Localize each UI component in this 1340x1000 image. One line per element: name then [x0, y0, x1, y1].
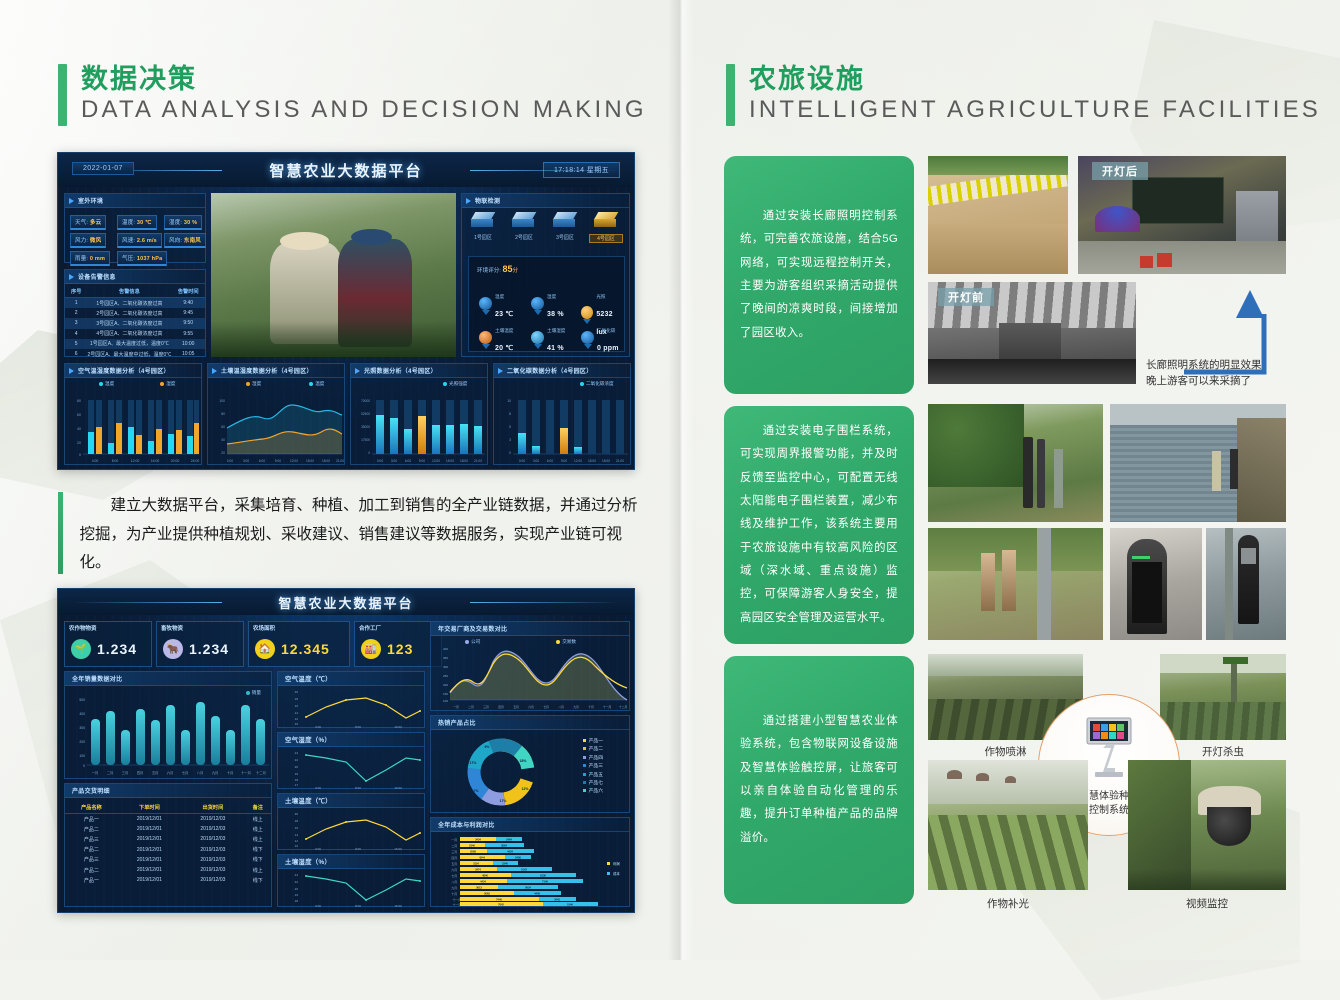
svg-text:9:00: 9:00 — [561, 459, 567, 463]
svg-text:四月: 四月 — [498, 705, 504, 709]
weather-chip: 风向: 东南风 — [164, 233, 206, 248]
svg-text:十二月: 十二月 — [453, 903, 462, 906]
svg-text:100: 100 — [79, 754, 85, 758]
table-row: 22号园区A、二氧化碳浓度过高9:45 — [65, 308, 205, 318]
panel-title: 产品交货明细 — [69, 786, 110, 795]
legend-cost: 成本 — [613, 871, 620, 876]
kpi-crop-supplies: 农作物物资 🌱 1.234 — [64, 621, 152, 667]
line-chart-svg: 201816141210 0:008:0016:00 — [278, 687, 426, 729]
svg-text:17%: 17% — [470, 761, 477, 765]
weather-chip: 雨量: 0 mm — [70, 251, 110, 266]
svg-text:21:00: 21:00 — [336, 459, 344, 463]
chart-hot-products: 热销产品占比 9%18%12% 17%17%17% 产品一 产品二 产品四 产品… — [430, 715, 630, 813]
table-row: 产品二2019/12/012019/12/03线下 — [65, 845, 271, 855]
triangle-icon — [69, 368, 74, 374]
zone-label: 2号园区 — [507, 234, 541, 241]
svg-text:16: 16 — [295, 826, 299, 830]
sensor-co2: 二氧化碳0 ppm — [581, 319, 619, 355]
svg-text:4434: 4434 — [480, 879, 486, 883]
svg-text:6136: 6136 — [540, 873, 546, 877]
svg-text:0: 0 — [83, 764, 85, 768]
kpi-partner-factories: 合作工厂 🏭 123 — [354, 621, 442, 667]
svg-text:12:00: 12:00 — [290, 459, 298, 463]
table-row: 产品一2019/12/012019/12/03线上 — [65, 814, 271, 825]
svg-text:九月: 九月 — [212, 770, 218, 775]
svg-text:6:00: 6:00 — [547, 459, 553, 463]
svg-text:10: 10 — [507, 399, 511, 403]
chart-profit-cost: 全年成本与利润对比 一月二月三月四月 五月六月七月八月 九月十月十一月十二月 — [430, 817, 630, 907]
svg-text:0:00: 0:00 — [519, 459, 525, 463]
svg-text:3694: 3694 — [501, 843, 507, 847]
panel-title: 年交易厂商及交易数对比 — [435, 624, 507, 633]
dashboard-date: 2022-01-07 — [72, 162, 134, 175]
section-title-en: INTELLIGENT AGRICULTURE FACILITIES — [749, 95, 1321, 125]
svg-text:九月: 九月 — [451, 886, 457, 890]
iot-zone-4[interactable]: 4号园区 — [589, 212, 623, 243]
crop-icon: 🌱 — [71, 639, 91, 659]
server-rack-icon — [552, 212, 578, 232]
triangle-icon — [69, 198, 74, 204]
chart-light-intensity: 光照数据分析（4号园区） 光照强度 700005250035000175000 — [350, 363, 488, 465]
svg-text:17%: 17% — [500, 799, 507, 803]
svg-text:0:00: 0:00 — [315, 847, 321, 851]
table-row: 产品三2019/12/012019/12/03线上 — [65, 834, 271, 844]
svg-text:二月: 二月 — [451, 844, 457, 848]
svg-text:八月: 八月 — [197, 771, 203, 775]
svg-text:35000: 35000 — [361, 425, 370, 429]
svg-text:70000: 70000 — [361, 399, 370, 403]
svg-text:十二月: 十二月 — [619, 705, 628, 709]
triangle-icon — [466, 198, 471, 204]
svg-text:5063: 5063 — [484, 891, 490, 895]
chart-legend: 温度 湿度 — [99, 381, 175, 387]
chart-soil-temperature-mini: 土壤温度（℃） 201816141210 0:008:0016:00 — [277, 793, 425, 850]
soil-thermometer-icon — [479, 331, 492, 344]
quote-text: 建立大数据平台，采集培育、种植、加工到销售的全产业链数据，并通过分析挖掘，为产业… — [79, 492, 638, 578]
iot-zone-3[interactable]: 3号园区 — [548, 212, 582, 241]
svg-text:0:00: 0:00 — [377, 459, 383, 463]
svg-text:二月: 二月 — [468, 705, 474, 709]
svg-text:2406: 2406 — [515, 855, 521, 859]
svg-text:5143: 5143 — [521, 867, 527, 871]
svg-text:3434: 3434 — [475, 837, 481, 841]
env-score: 环境评分: 85分 — [477, 264, 518, 274]
svg-text:8:00: 8:00 — [355, 847, 361, 851]
svg-text:5634: 5634 — [525, 885, 531, 889]
svg-text:16:00: 16:00 — [394, 786, 402, 790]
facility-card-lighting: 通过安装长廊照明控制系统，可完善农旅设施，结合5G网络，可实现远程控制开关，主要… — [724, 156, 914, 394]
server-rack-icon — [470, 212, 496, 232]
table-row: 产品二2019/12/012019/12/03线上 — [65, 824, 271, 834]
svg-text:15:00: 15:00 — [306, 459, 314, 463]
humidity-icon — [531, 297, 544, 310]
panel-title: 光照数据分析（4号园区） — [364, 366, 437, 375]
panel-title: 土壤温湿度数据分析（4号园区） — [221, 366, 313, 375]
svg-text:8:00: 8:00 — [355, 725, 361, 729]
facility-text: 通过搭建小型智慧农业体验系统，包含物联网设备设施及智慧体验触控屏，让旅客可以亲自… — [740, 710, 898, 850]
svg-text:19: 19 — [295, 893, 299, 897]
svg-text:五月: 五月 — [513, 705, 519, 709]
svg-text:200: 200 — [79, 740, 85, 744]
zone-label: 1号园区 — [466, 234, 500, 241]
table-row: 62号园区A、最大温度中过低，温度0℃10:05 — [65, 349, 205, 359]
svg-text:14: 14 — [295, 833, 299, 837]
svg-text:200: 200 — [443, 683, 448, 687]
photo-fence-orchard — [928, 404, 1103, 522]
line-chart-svg: 201816141210 0:008:0016:00 — [278, 809, 426, 851]
svg-text:二月: 二月 — [107, 771, 113, 775]
line-chart-svg: 242220191817 0:008:0016:00 — [278, 748, 426, 790]
iot-zone-2[interactable]: 2号园区 — [507, 212, 541, 241]
svg-text:2346: 2346 — [502, 861, 508, 865]
svg-text:40: 40 — [77, 427, 81, 431]
svg-text:300: 300 — [79, 726, 85, 730]
svg-text:24: 24 — [295, 873, 299, 877]
table-row: 产品二2019/12/012019/12/03线上 — [65, 865, 271, 875]
svg-text:0: 0 — [79, 453, 81, 457]
dashboard-title-bar: 智慧农业大数据平台 — [58, 589, 634, 615]
table-product-delivery: 产品交货明细 产品名称 下单时间 出货时间 备注 产品一2019/12/0120… — [64, 783, 272, 907]
page-fold — [668, 0, 694, 960]
section-title-cn: 数据决策 — [81, 64, 647, 95]
bar-chart-svg: 700005250035000175000 0:003:006:009:00 1… — [351, 394, 489, 466]
triangle-icon — [498, 368, 503, 374]
kpi-farm-area: 农场面积 🏠 12.345 — [248, 621, 350, 667]
chart-soil-humidity-mini: 土壤湿度（%） 2422201918 0:008:0016:00 — [277, 854, 425, 907]
svg-text:0: 0 — [509, 451, 511, 455]
area-chart-svg: 10080604020 0:003:006:009:00 12:0015:001… — [208, 394, 346, 466]
panel-iot-monitoring: 物联检测 1号园区 2号园区 3号园区 — [461, 193, 630, 357]
svg-text:10: 10 — [295, 722, 299, 726]
facility-text: 通过安装电子围栏系统，可实现周界报警功能，并及时反馈至监控中心，可配置无线太阳能… — [740, 420, 898, 630]
svg-text:0:00: 0:00 — [227, 459, 233, 463]
svg-text:60: 60 — [221, 425, 225, 429]
svg-text:18: 18 — [295, 778, 299, 782]
table-row: 产品三2019/12/012019/12/03线下 — [65, 855, 271, 865]
svg-text:七月: 七月 — [182, 770, 188, 775]
svg-text:四月: 四月 — [137, 771, 143, 775]
svg-text:5: 5 — [509, 425, 511, 429]
iot-sensor-box: 环境评分: 85分 温度23 ℃ 湿度38 % 光照5232 lux 土壤温度2… — [468, 256, 625, 352]
svg-text:18: 18 — [295, 899, 299, 903]
svg-text:八月: 八月 — [451, 880, 457, 884]
svg-text:18:00: 18:00 — [460, 459, 468, 463]
svg-text:400: 400 — [443, 647, 448, 651]
line-chart-svg: 2422201918 0:008:0016:00 — [278, 870, 426, 908]
quote-accent-bar — [58, 492, 63, 574]
svg-text:十月: 十月 — [227, 770, 233, 775]
svg-text:7446: 7446 — [496, 897, 502, 901]
photo-led-strip — [928, 156, 1068, 274]
panel-title: 二氧化碳数据分析（4号园区） — [507, 366, 593, 375]
svg-text:2568: 2568 — [470, 849, 476, 853]
farm-icon: 🏠 — [255, 639, 275, 659]
table-header-row: 序号 告警信息 告警时间 — [65, 286, 205, 298]
svg-text:16: 16 — [295, 704, 299, 708]
svg-text:4846: 4846 — [482, 873, 488, 877]
chart-air-temp-humidity: 空气温湿度数据分析（4号园区） 温度 湿度 806040200 — [64, 363, 202, 465]
svg-text:3443: 3443 — [554, 897, 560, 901]
svg-text:4448: 4448 — [534, 891, 540, 895]
panel-title: 室外环境 — [78, 196, 103, 205]
svg-text:七月: 七月 — [543, 705, 549, 709]
facility-card-experience: 通过搭建小型智慧农业体验系统，包含物联网设备设施及智慧体验触控屏，让旅客可以亲自… — [724, 656, 914, 904]
alarm-table: 序号 告警信息 告警时间 11号园区A、二氧化碳浓度过高9:40 22号园区A、… — [65, 286, 205, 359]
weather-chip: 天气: 多云 — [70, 215, 106, 230]
svg-text:4:00: 4:00 — [92, 459, 99, 463]
svg-text:21:00: 21:00 — [616, 459, 624, 463]
dashboard-title: 智慧农业大数据平台 — [278, 593, 413, 612]
delivery-table: 产品名称 下单时间 出货时间 备注 产品一2019/12/012019/12/0… — [65, 802, 271, 885]
kpi-livestock-supplies: 畜牧物资 🐂 1.234 — [156, 621, 244, 667]
svg-text:3:00: 3:00 — [243, 459, 249, 463]
svg-text:20: 20 — [77, 441, 81, 445]
donut-chart-svg: 9%18%12% 17%17%17% — [443, 732, 563, 812]
section-accent-bar — [726, 64, 735, 126]
svg-text:19: 19 — [295, 772, 299, 776]
svg-text:六月: 六月 — [167, 770, 173, 775]
svg-text:10: 10 — [295, 844, 299, 848]
svg-text:16:00: 16:00 — [151, 459, 160, 463]
triangle-icon — [69, 274, 74, 280]
svg-text:9:00: 9:00 — [275, 459, 281, 463]
svg-text:24: 24 — [295, 751, 299, 755]
svg-text:12%: 12% — [522, 787, 529, 791]
left-quote-block: 建立大数据平台，采集培育、种植、加工到销售的全产业链数据，并通过分析挖掘，为产业… — [58, 492, 638, 578]
svg-text:24:00: 24:00 — [191, 459, 200, 463]
svg-text:8:00: 8:00 — [355, 904, 361, 908]
corridor-effect-note: 长廊照明系统的明显效果 晚上游客可以来采摘了 — [1146, 358, 1296, 390]
svg-text:500: 500 — [79, 698, 85, 702]
svg-text:52500: 52500 — [361, 412, 370, 416]
zone-label: 4号园区 — [589, 234, 623, 243]
svg-text:3474: 3474 — [475, 867, 481, 871]
donut-legend: 产品一 产品二 产品四 产品三 产品五 产品七 产品六 — [583, 738, 603, 797]
svg-text:80: 80 — [77, 399, 81, 403]
svg-text:300: 300 — [443, 665, 448, 669]
greenhouse-photo — [211, 193, 456, 357]
svg-text:15:00: 15:00 — [446, 459, 454, 463]
panel-title: 空气湿度（%） — [282, 735, 331, 744]
svg-text:12:00: 12:00 — [131, 459, 140, 463]
svg-text:十一月: 十一月 — [603, 705, 612, 709]
svg-text:8:00: 8:00 — [355, 786, 361, 790]
svg-text:一月: 一月 — [451, 838, 457, 842]
svg-text:15:00: 15:00 — [588, 459, 596, 463]
svg-text:18:00: 18:00 — [322, 459, 330, 463]
co2-icon — [581, 331, 594, 344]
dashboard-title: 智慧农业大数据平台 — [269, 160, 422, 181]
svg-text:8:00: 8:00 — [112, 459, 119, 463]
svg-text:16:00: 16:00 — [394, 725, 402, 729]
chart-annual-sales: 全年销量数据对比 销量 5004003002001000 — [64, 671, 272, 779]
svg-text:0:00: 0:00 — [315, 786, 321, 790]
table-row: 产品一2019/12/012019/12/03线下 — [65, 875, 271, 885]
svg-text:三月: 三月 — [483, 705, 489, 709]
svg-text:12: 12 — [295, 839, 299, 843]
svg-text:2464: 2464 — [506, 837, 512, 841]
svg-text:十月: 十月 — [588, 705, 594, 709]
svg-text:17%: 17% — [472, 789, 479, 793]
panel-title: 土壤温度（℃） — [282, 796, 332, 805]
svg-text:5146: 5146 — [567, 902, 573, 906]
svg-text:16:00: 16:00 — [394, 904, 402, 908]
table-row: 44号园区A、二氧化碳浓度过高9:55 — [65, 329, 205, 339]
dashboard-overview: 智慧农业大数据平台 2022-01-07 17:18:14 星期五 室外环境 天… — [57, 152, 635, 470]
svg-text:20: 20 — [295, 765, 299, 769]
svg-text:4434: 4434 — [507, 849, 513, 853]
panel-outdoor-environment: 室外环境 天气: 多云 温度: 30 ℃ 湿度: 30 % 风力: 微风 风速:… — [64, 193, 206, 263]
photo-crop-supplementary-light — [928, 760, 1088, 890]
photo-pest-light — [1160, 654, 1286, 740]
caption-video-surveillance: 视频监控 — [1128, 896, 1286, 911]
tag-before-lights: 开灯前 — [938, 288, 994, 306]
weather-chip: 风速: 2.6 m/s — [117, 233, 162, 248]
svg-text:150: 150 — [443, 692, 448, 696]
svg-text:7146: 7146 — [542, 879, 548, 883]
svg-text:18: 18 — [295, 697, 299, 701]
server-rack-icon — [593, 212, 619, 232]
svg-text:12:00: 12:00 — [432, 459, 440, 463]
svg-text:2346: 2346 — [469, 843, 475, 847]
bar-chart-svg: 5004003002001000 一月二月三月四月 五月六月七月八月 — [65, 689, 273, 779]
photo-fence-water — [1110, 404, 1286, 522]
svg-text:8: 8 — [509, 412, 511, 416]
svg-text:20: 20 — [221, 451, 225, 455]
panel-title: 物联检测 — [475, 196, 500, 205]
svg-text:一月: 一月 — [453, 705, 459, 709]
weather-chip: 温度: 30 ℃ — [117, 215, 157, 230]
svg-text:18: 18 — [295, 819, 299, 823]
svg-text:22: 22 — [295, 880, 299, 884]
svg-text:一月: 一月 — [92, 771, 98, 775]
chart-legend: 湿度 温度 — [246, 381, 324, 387]
sensor-soil-temperature: 土壤温度20 ℃ — [479, 319, 513, 355]
chart-trade-vendors: 年交易厂商及交易数对比 公司 交易数 400350300250200150100… — [430, 621, 630, 711]
weather-chip: 湿度: 30 % — [164, 215, 202, 230]
svg-text:22: 22 — [295, 758, 299, 762]
svg-text:18:00: 18:00 — [602, 459, 610, 463]
svg-text:20: 20 — [295, 812, 299, 816]
dashboard-analytics: 智慧农业大数据平台 农作物物资 🌱 1.234 畜牧物资 🐂 1.234 农场面… — [57, 588, 635, 913]
caption-supplementary-light: 作物补光 — [928, 896, 1088, 911]
svg-text:六月: 六月 — [528, 705, 534, 709]
sensor-humidity: 湿度38 % — [531, 285, 564, 321]
svg-text:40: 40 — [221, 438, 225, 442]
svg-text:12:00: 12:00 — [574, 459, 582, 463]
svg-text:0:00: 0:00 — [315, 904, 321, 908]
svg-text:3613: 3613 — [476, 885, 482, 889]
svg-text:五月: 五月 — [152, 771, 158, 775]
svg-text:17500: 17500 — [361, 438, 370, 442]
svg-text:17: 17 — [295, 783, 299, 787]
iot-zone-1[interactable]: 1号园区 — [466, 212, 500, 241]
svg-text:400: 400 — [79, 712, 85, 716]
section-header-right: 农旅设施 INTELLIGENT AGRICULTURE FACILITIES — [726, 64, 1321, 126]
sensor-soil-humidity: 土壤湿度41 % — [531, 319, 565, 355]
svg-text:九月: 九月 — [573, 705, 579, 709]
photo-fence-pole-sensor — [1206, 528, 1286, 640]
sensor-temperature: 温度23 ℃ — [479, 285, 513, 321]
sun-icon — [581, 306, 593, 319]
svg-text:21:00: 21:00 — [474, 459, 482, 463]
chart-air-humidity-mini: 空气湿度（%） 242220191817 0:008:0016:00 — [277, 732, 425, 789]
svg-text:4244: 4244 — [479, 855, 485, 859]
svg-text:16:00: 16:00 — [394, 847, 402, 851]
thermometer-icon — [479, 297, 492, 310]
panel-title: 设备告警信息 — [78, 272, 116, 281]
svg-text:6:00: 6:00 — [405, 459, 411, 463]
svg-text:三月: 三月 — [122, 771, 128, 775]
svg-text:9:00: 9:00 — [419, 459, 425, 463]
soil-humidity-icon — [531, 331, 544, 344]
legend-profit: 利润 — [613, 861, 620, 866]
chart-legend: 二氧化碳浓度 — [580, 381, 614, 387]
svg-text:3: 3 — [509, 438, 511, 442]
weather-chip: 气压: 1037 hPa — [117, 251, 167, 266]
svg-text:四月: 四月 — [451, 856, 457, 860]
svg-text:八月: 八月 — [558, 705, 564, 709]
livestock-icon: 🐂 — [163, 639, 183, 659]
svg-text:100: 100 — [443, 699, 448, 703]
table-header-row: 产品名称 下单时间 出货时间 备注 — [65, 802, 271, 814]
facility-text: 通过安装长廊照明控制系统，可完善农旅设施，结合5G网络，可实现远程控制开关，主要… — [740, 205, 898, 345]
svg-text:三月: 三月 — [451, 850, 457, 854]
svg-text:六月: 六月 — [451, 868, 457, 872]
bar-chart-svg: 806040200 4:008:0012:00 16:0020:0024:00 — [65, 394, 203, 466]
chart-legend: 光照强度 — [443, 381, 467, 387]
svg-text:350: 350 — [443, 656, 448, 660]
panel-title: 空气温度（℃） — [282, 674, 332, 683]
server-rack-icon — [511, 212, 537, 232]
photo-fence-solar — [928, 528, 1103, 640]
chart-soil-temp-humidity: 土壤温湿度数据分析（4号园区） 湿度 温度 10080604020 0:003:… — [207, 363, 345, 465]
svg-text:3124: 3124 — [473, 861, 479, 865]
panel-device-alarms: 设备告警信息 序号 告警信息 告警时间 11号园区A、二氧化碳浓度过高9:40 … — [64, 269, 206, 357]
panel-title: 全年销量数据对比 — [69, 674, 122, 683]
bar-chart-svg: 108530 0:003:006:009:00 12:0015:0018:002… — [494, 394, 632, 466]
panel-title: 土壤湿度（%） — [282, 857, 331, 866]
svg-text:18%: 18% — [520, 759, 527, 763]
table-row: 33号园区A、二氧化碳浓度过高9:50 — [65, 318, 205, 328]
tag-after-lights: 开灯后 — [1092, 162, 1148, 180]
svg-text:0:00: 0:00 — [315, 725, 321, 729]
panel-title: 热销产品占比 — [435, 718, 476, 727]
chart-co2: 二氧化碳数据分析（4号园区） 二氧化碳浓度 108530 0:003:006:0… — [493, 363, 631, 465]
dashboard-title-bar: 智慧农业大数据平台 2022-01-07 17:18:14 星期五 — [58, 153, 634, 187]
triangle-icon — [355, 368, 360, 374]
svg-text:80: 80 — [221, 412, 225, 416]
svg-text:3:00: 3:00 — [533, 459, 539, 463]
table-row: 11号园区A、二氧化碳浓度过高9:40 — [65, 298, 205, 309]
table-row: 51号园区A、最大温度过低，温度0℃10:00 — [65, 339, 205, 349]
svg-text:十一月: 十一月 — [241, 770, 251, 775]
svg-text:12: 12 — [295, 717, 299, 721]
photo-video-surveillance — [1128, 760, 1286, 890]
zone-label: 3号园区 — [548, 234, 582, 241]
photo-fence-device-box — [1110, 528, 1202, 640]
svg-text:9%: 9% — [485, 745, 490, 749]
svg-text:20:00: 20:00 — [171, 459, 180, 463]
panel-title: 空气温湿度数据分析（4号园区） — [78, 366, 170, 375]
section-title-en: DATA ANALYSIS AND DECISION MAKING — [81, 95, 647, 125]
horizontal-bar-chart-svg: 一月二月三月四月 五月六月七月八月 九月十月十一月十二月 34342464 — [431, 834, 631, 906]
weather-chip: 风力: 微风 — [70, 233, 106, 248]
section-header-left: 数据决策 DATA ANALYSIS AND DECISION MAKING — [58, 64, 647, 126]
svg-text:七月: 七月 — [451, 874, 457, 878]
svg-text:20: 20 — [295, 887, 299, 891]
factory-icon: 🏭 — [361, 639, 381, 659]
